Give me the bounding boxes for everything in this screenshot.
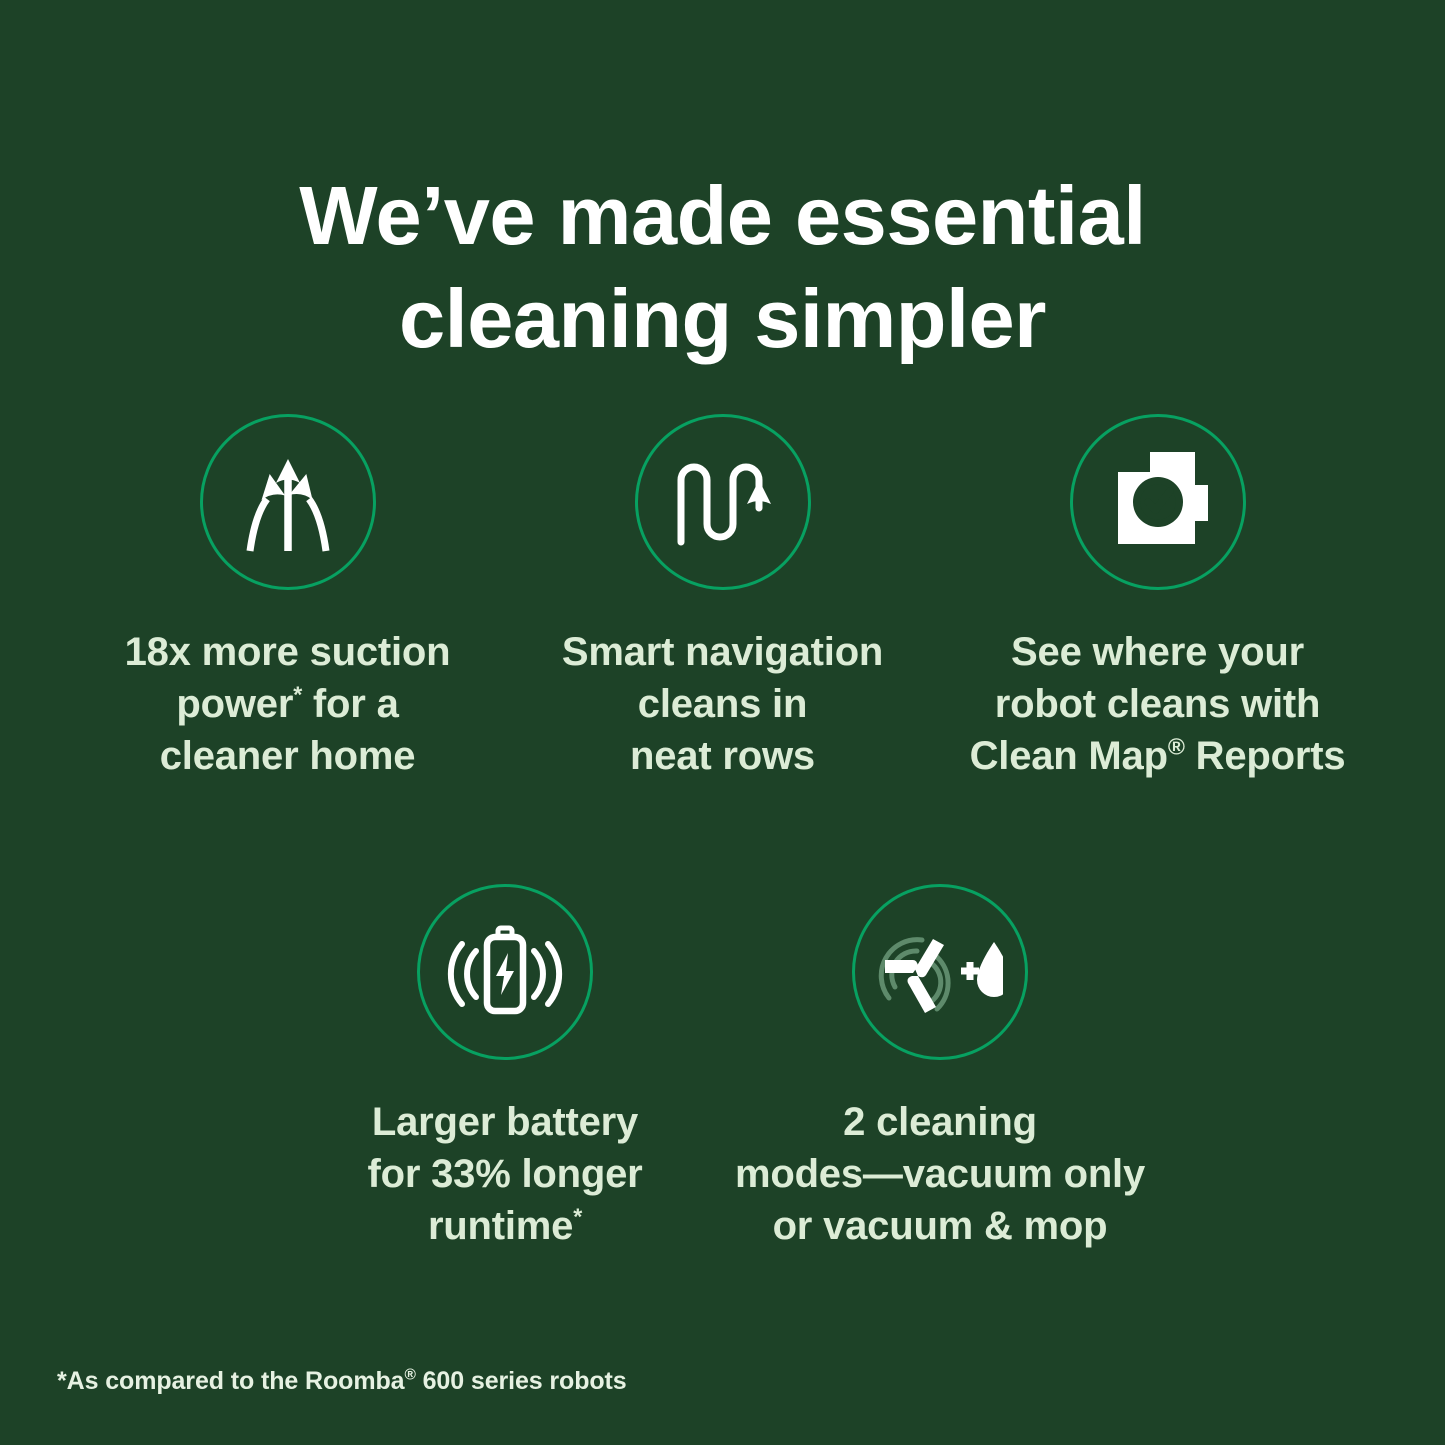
footnote: *As compared to the Roomba® 600 series r… [57, 1367, 627, 1396]
caption-superscript: ® [1168, 734, 1185, 760]
caption-superscript: * [573, 1204, 582, 1230]
page-title: We’ve made essential cleaning simpler [0, 164, 1445, 372]
feature-row-top: 18x more suction power* for a cleaner ho… [0, 414, 1445, 782]
caption-main: 18x more suction power [125, 630, 451, 726]
caption-superscript: * [293, 682, 302, 708]
feature-caption: See where your robot cleans with Clean M… [970, 626, 1346, 782]
caption-rest: Reports [1185, 734, 1346, 778]
vacuum-plus-mop-icon [877, 929, 1003, 1015]
floorplan-check-map-icon [1103, 447, 1213, 557]
footnote-suffix: 600 series robots [416, 1367, 627, 1395]
feature-suction: 18x more suction power* for a cleaner ho… [70, 414, 505, 782]
suction-arrows-icon-circle [200, 414, 376, 590]
feature-caption: 2 cleaning modes—vacuum only or vacuum &… [735, 1096, 1145, 1252]
caption-main: Larger battery for 33% longer runtime [367, 1100, 642, 1248]
floorplan-check-map-icon-circle [1070, 414, 1246, 590]
caption-main: Smart navigation cleans in neat rows [562, 630, 883, 778]
suction-arrows-icon [229, 443, 347, 561]
feature-clean-map: See where your robot cleans with Clean M… [940, 414, 1375, 782]
feature-caption: Smart navigation cleans in neat rows [562, 626, 883, 782]
feature-caption: Larger battery for 33% longer runtime* [367, 1096, 642, 1252]
feature-battery: Larger battery for 33% longer runtime* [288, 884, 723, 1252]
caption-main: 2 cleaning modes—vacuum only or vacuum &… [735, 1100, 1145, 1248]
feature-cleaning-modes: 2 cleaning modes—vacuum only or vacuum &… [723, 884, 1158, 1252]
feature-row-bottom: Larger battery for 33% longer runtime* [0, 884, 1445, 1252]
serpentine-navigation-icon [667, 446, 779, 558]
promo-poster: We’ve made essential cleaning simpler [0, 0, 1445, 1445]
footnote-registered-mark: ® [404, 1367, 415, 1384]
serpentine-navigation-icon-circle [635, 414, 811, 590]
battery-charging-icon [446, 919, 564, 1025]
vacuum-plus-mop-icon-circle [852, 884, 1028, 1060]
footnote-prefix: *As compared to the Roomba [57, 1367, 404, 1395]
feature-caption: 18x more suction power* for a cleaner ho… [125, 626, 451, 782]
battery-charging-icon-circle [417, 884, 593, 1060]
feature-navigation: Smart navigation cleans in neat rows [505, 414, 940, 782]
